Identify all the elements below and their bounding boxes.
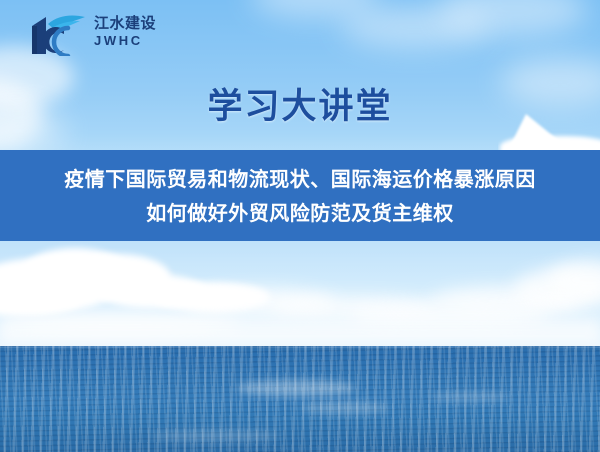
company-logo: 江水建设 JWHC xyxy=(28,12,180,58)
ocean-glint xyxy=(236,380,356,396)
page-title: 学习大讲堂 xyxy=(0,78,600,129)
horizon-haze xyxy=(0,330,600,342)
logo-wordmark: 江水建设 JWHC xyxy=(94,14,180,49)
logo-company-name-cn: 江水建设 xyxy=(94,14,180,32)
ocean-glint xyxy=(300,402,390,414)
ocean-background xyxy=(0,346,600,452)
banner-line-2: 如何做好外贸风险防范及货主维权 xyxy=(146,196,454,230)
ocean-glint xyxy=(430,392,510,402)
banner-line-1: 疫情下国际贸易和物流现状、国际海运价格暴涨原因 xyxy=(64,162,536,196)
wave-swoosh-logo-icon xyxy=(28,14,90,56)
poster-root: 江水建设 JWHC 学习大讲堂 疫情下国际贸易和物流现状、国际海运价格暴涨原因 … xyxy=(0,0,600,452)
logo-company-name-en: JWHC xyxy=(94,33,180,49)
ocean-glint xyxy=(150,430,280,442)
ocean-ripple-texture xyxy=(0,346,600,452)
subtitle-banner: 疫情下国际贸易和物流现状、国际海运价格暴涨原因 如何做好外贸风险防范及货主维权 xyxy=(0,150,600,241)
